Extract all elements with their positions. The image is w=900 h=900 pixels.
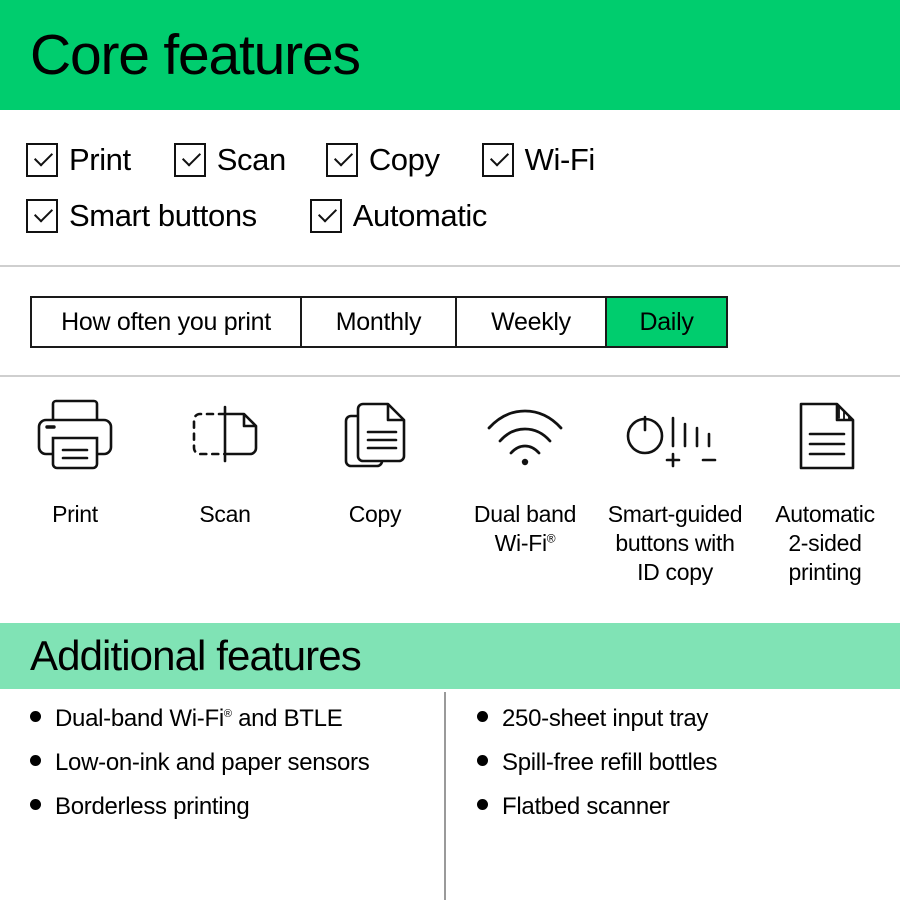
frequency-row-label: How often you print	[32, 298, 302, 346]
feature-scan: Scan	[150, 388, 300, 529]
divider-below-frequency	[0, 375, 900, 377]
feature-copy: Copy	[300, 388, 450, 529]
printer-icon	[29, 388, 121, 484]
additional-feature-item: Dual-band Wi-Fi® and BTLE	[30, 705, 445, 733]
divider-above-frequency	[0, 265, 900, 267]
checkbox-label: Wi-Fi	[525, 142, 595, 178]
additional-features-right-column: 250-sheet input traySpill-free refill bo…	[445, 689, 900, 900]
checkbox-item-automatic[interactable]: Automatic	[310, 198, 487, 234]
checkbox-label: Print	[69, 142, 131, 178]
checkbox-label: Smart buttons	[69, 198, 257, 234]
scan-icon	[179, 388, 271, 484]
frequency-option-monthly[interactable]: Monthly	[302, 298, 457, 346]
core-features-title: Core features	[0, 27, 360, 84]
frequency-option-weekly[interactable]: Weekly	[457, 298, 607, 346]
additional-feature-label: Low-on-ink and paper sensors	[55, 749, 369, 777]
checkbox-row-1: PrintScanCopyWi-Fi	[26, 132, 900, 188]
checkbox-item-copy[interactable]: Copy	[326, 142, 440, 178]
feature-caption-copy-documents: Copy	[349, 500, 402, 529]
feature-caption-smart-buttons: Smart-guidedbuttons withID copy	[608, 500, 742, 586]
additional-features-body: Dual-band Wi-Fi® and BTLELow-on-ink and …	[0, 689, 900, 900]
additional-feature-item: Spill-free refill bottles	[477, 749, 900, 777]
feature-caption-wifi: Dual bandWi-Fi®	[474, 500, 576, 558]
bullet-dot-icon	[30, 799, 41, 810]
wifi-icon	[477, 388, 573, 484]
additional-feature-item: 250-sheet input tray	[477, 705, 900, 733]
checkbox-checked-icon[interactable]	[174, 143, 206, 177]
column-divider	[444, 692, 446, 900]
checkbox-row-2: Smart buttonsAutomatic	[26, 188, 900, 244]
additional-features-header: Additional features	[0, 623, 900, 689]
bullet-dot-icon	[30, 711, 41, 722]
checkbox-label: Automatic	[353, 198, 487, 234]
checkbox-label: Scan	[217, 142, 286, 178]
feature-dual-band-wifi: Dual bandWi-Fi®	[450, 388, 600, 558]
feature-caption-duplex-page: Automatic2-sidedprinting	[775, 500, 875, 586]
duplex-page-icon	[779, 388, 871, 484]
bullet-dot-icon	[477, 799, 488, 810]
checkbox-item-wi-fi[interactable]: Wi-Fi	[482, 142, 595, 178]
additional-features-title: Additional features	[0, 635, 361, 677]
additional-feature-item: Borderless printing	[30, 793, 445, 821]
checkbox-checked-icon[interactable]	[310, 199, 342, 233]
additional-feature-label: Spill-free refill bottles	[502, 749, 717, 777]
copy-documents-icon	[329, 388, 421, 484]
additional-feature-label: Borderless printing	[55, 793, 249, 821]
additional-feature-label: Flatbed scanner	[502, 793, 670, 821]
checkbox-item-print[interactable]: Print	[26, 142, 131, 178]
feature-icon-row: Print Scan Cop	[0, 388, 900, 620]
feature-caption-printer: Print	[52, 500, 98, 529]
frequency-option-daily[interactable]: Daily	[607, 298, 726, 346]
checkbox-checked-icon[interactable]	[482, 143, 514, 177]
checkbox-item-scan[interactable]: Scan	[174, 142, 286, 178]
checkbox-checked-icon[interactable]	[326, 143, 358, 177]
checkbox-checked-icon[interactable]	[26, 199, 58, 233]
additional-feature-item: Flatbed scanner	[477, 793, 900, 821]
additional-features-left-column: Dual-band Wi-Fi® and BTLELow-on-ink and …	[0, 689, 445, 900]
bullet-dot-icon	[30, 755, 41, 766]
feature-caption-scan: Scan	[199, 500, 250, 529]
core-features-header: Core features	[0, 0, 900, 110]
spec-sheet-page: Core features PrintScanCopyWi-Fi Smart b…	[0, 0, 900, 900]
feature-print: Print	[0, 388, 150, 529]
additional-feature-item: Low-on-ink and paper sensors	[30, 749, 445, 777]
feature-smart-guided-buttons: Smart-guidedbuttons withID copy	[600, 388, 750, 586]
smart-buttons-icon	[617, 388, 733, 484]
additional-feature-label: 250-sheet input tray	[502, 705, 708, 733]
core-features-checkbox-section: PrintScanCopyWi-Fi Smart buttonsAutomati…	[0, 110, 900, 265]
bullet-dot-icon	[477, 711, 488, 722]
checkbox-checked-icon[interactable]	[26, 143, 58, 177]
feature-automatic-2-sided: Automatic2-sidedprinting	[750, 388, 900, 586]
additional-feature-label: Dual-band Wi-Fi® and BTLE	[55, 705, 342, 733]
print-frequency-selector[interactable]: How often you printMonthlyWeeklyDaily	[30, 296, 728, 348]
checkbox-label: Copy	[369, 142, 440, 178]
checkbox-item-smart-buttons[interactable]: Smart buttons	[26, 198, 257, 234]
bullet-dot-icon	[477, 755, 488, 766]
